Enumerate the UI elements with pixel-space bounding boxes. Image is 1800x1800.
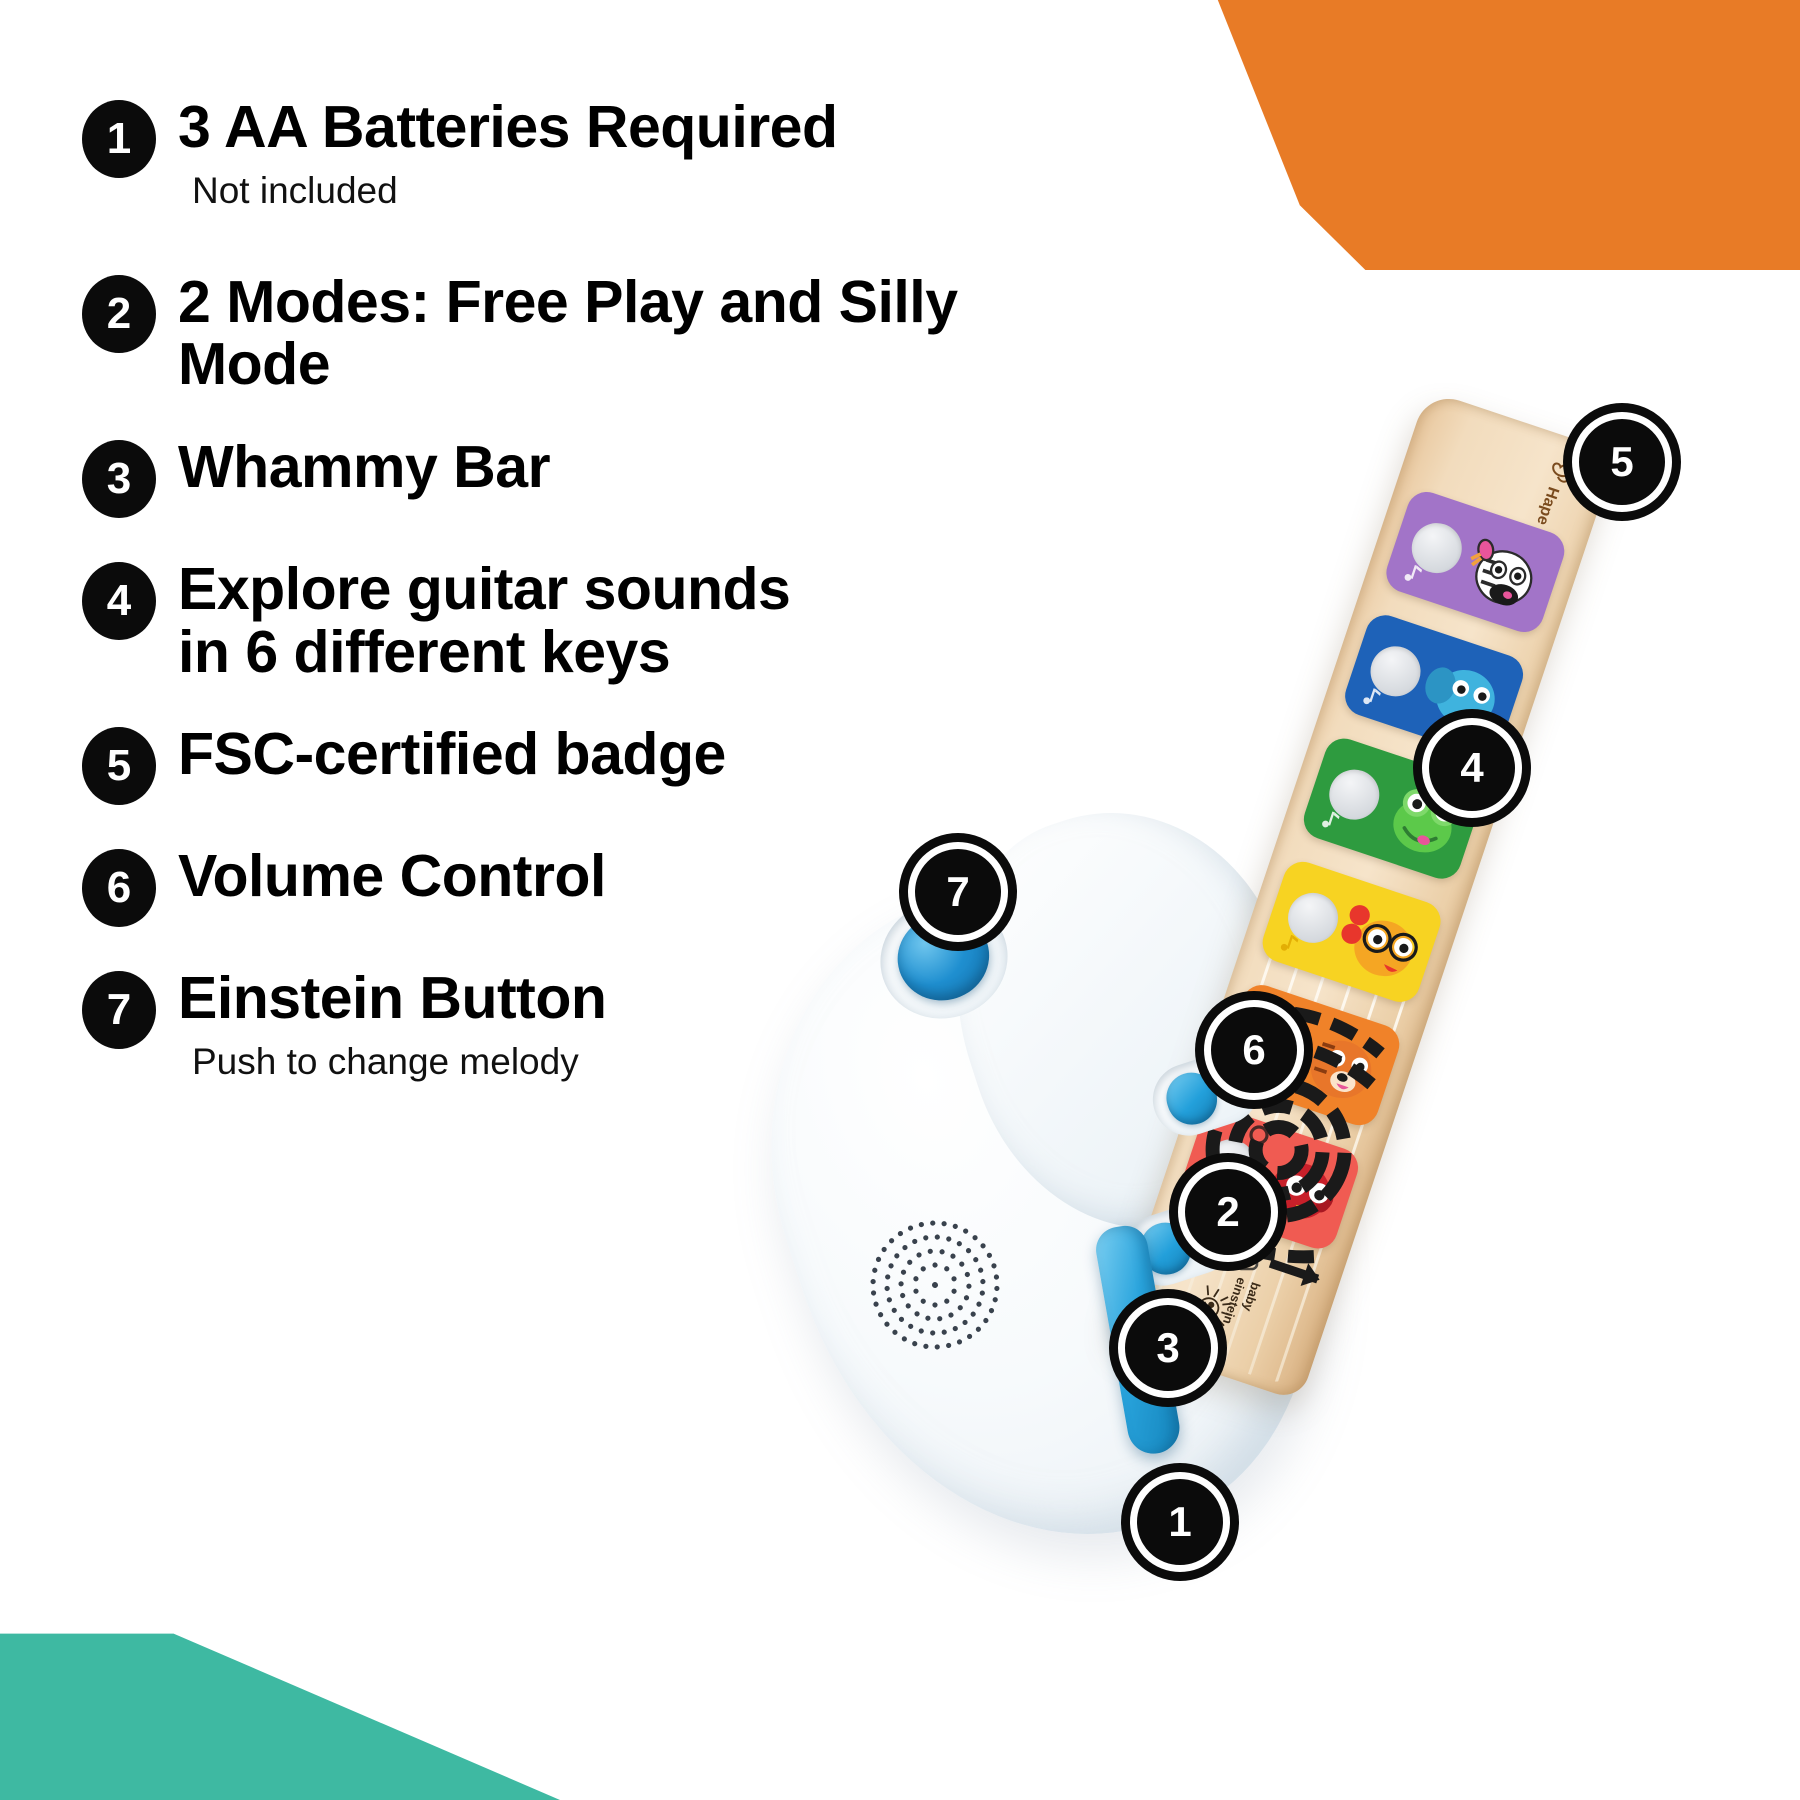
feature-item-1: 1 3 AA Batteries Required Not included: [82, 96, 1082, 213]
callout-label-6: 6: [1242, 1029, 1265, 1071]
svg-text:Hape: Hape: [1533, 485, 1562, 528]
callout-label-4: 4: [1460, 747, 1483, 789]
infographic-canvas: 1 3 AA Batteries Required Not included 2…: [0, 0, 1800, 1800]
feature-number-7: 7: [82, 971, 156, 1049]
feature-number-5: 5: [82, 727, 156, 805]
callout-label-1: 1: [1168, 1501, 1191, 1543]
feature-title-2: 2 Modes: Free Play and Silly Mode: [178, 271, 1082, 396]
power-off-icon: [1246, 1122, 1272, 1148]
feature-number-6: 6: [82, 849, 156, 927]
callout-label-7: 7: [946, 871, 969, 913]
callout-badge-6[interactable]: 6: [1204, 1000, 1304, 1100]
feature-number-4: 4: [82, 562, 156, 640]
orange-corner-shape: [980, 0, 1800, 270]
callout-badge-5[interactable]: 5: [1572, 412, 1672, 512]
feature-number-2: 2: [82, 275, 156, 353]
butterfly-icon: [1550, 461, 1573, 483]
feature-subtitle-1: Not included: [192, 169, 1082, 213]
callout-badge-2[interactable]: 2: [1178, 1162, 1278, 1262]
teal-corner-shape: [0, 1540, 560, 1800]
callout-badge-3[interactable]: 3: [1118, 1298, 1218, 1398]
feature-item-2: 2 2 Modes: Free Play and Silly Mode: [82, 271, 1082, 396]
callout-label-3: 3: [1156, 1327, 1179, 1369]
callout-label-2: 2: [1216, 1191, 1239, 1233]
feature-number-3: 3: [82, 440, 156, 518]
callout-badge-1[interactable]: 1: [1130, 1472, 1230, 1572]
feature-title-1: 3 AA Batteries Required: [178, 96, 1082, 159]
callout-badge-4[interactable]: 4: [1422, 718, 1522, 818]
callout-label-5: 5: [1610, 441, 1633, 483]
feature-number-1: 1: [82, 100, 156, 178]
callout-badge-7[interactable]: 7: [908, 842, 1008, 942]
product-image: Hape: [760, 380, 1660, 1610]
